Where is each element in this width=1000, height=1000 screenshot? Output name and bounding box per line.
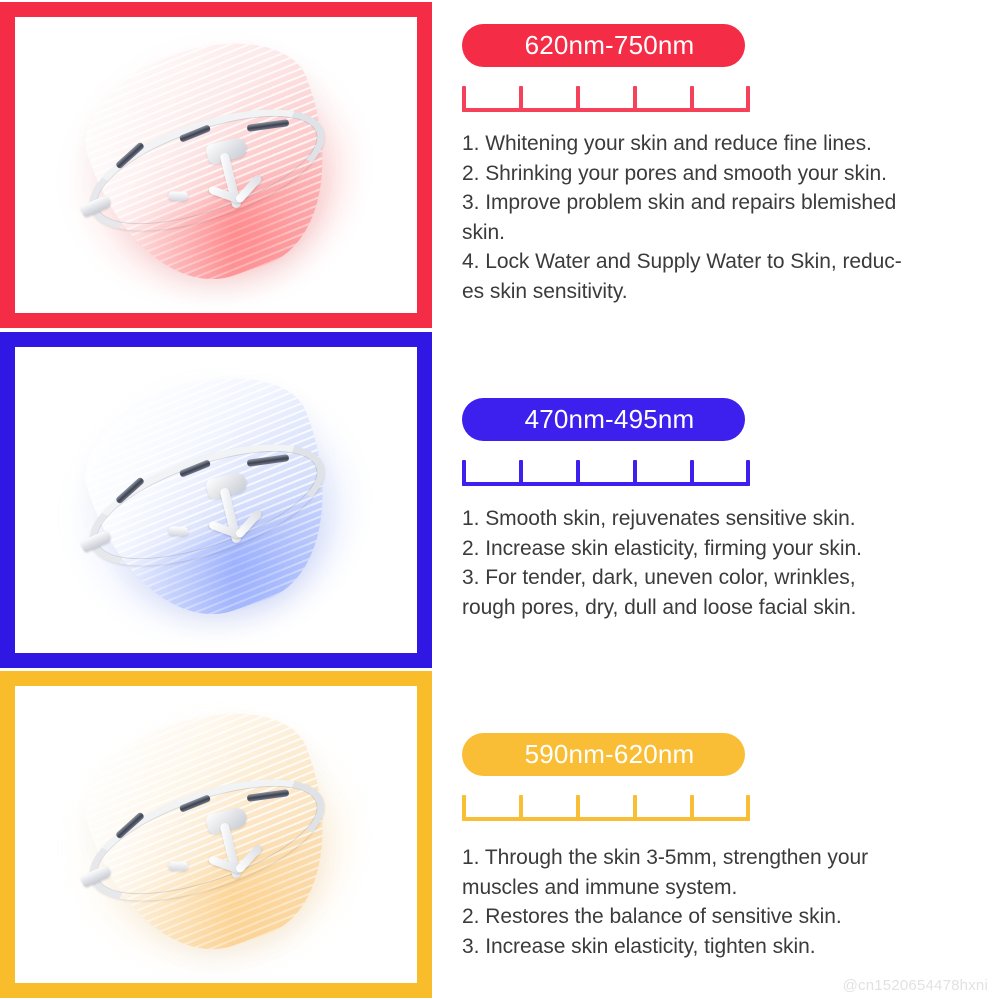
list-item: 3. Increase skin elasticity, tighten ski…	[462, 932, 990, 962]
benefit-list-red: 1. Whitening your skin and reduce fine l…	[462, 129, 990, 306]
list-item: 3. For tender, dark, uneven color, wrink…	[462, 563, 990, 622]
wavelength-scale-icon-blue	[462, 456, 750, 486]
led-face-mask-icon-blue	[51, 369, 381, 631]
benefit-list-yellow: 1. Through the skin 3-5mm, strengthen yo…	[462, 843, 990, 961]
watermark: @cn1520654478hxni	[843, 977, 988, 994]
led-face-mask-icon-yellow	[51, 704, 381, 966]
list-item: 4. Lock Water and Supply Water to Skin, …	[462, 247, 990, 306]
wavelength-scale-icon-red	[462, 82, 750, 112]
spec-block-blue: 470nm-495nm 1. Smooth skin, rejuvenates …	[462, 398, 990, 622]
product-infographic-page: 620nm-750nm 1. Whitening your skin and r…	[0, 0, 1000, 1000]
product-image-panel-blue	[0, 332, 432, 668]
list-item: 1. Smooth skin, rejuvenates sensitive sk…	[462, 504, 990, 534]
led-face-mask-icon-red	[51, 34, 381, 296]
panel-inner-yellow	[15, 686, 417, 983]
wavelength-badge-yellow: 590nm-620nm	[462, 733, 745, 776]
benefit-list-blue: 1. Smooth skin, rejuvenates sensitive sk…	[462, 504, 990, 622]
wavelength-badge-red: 620nm-750nm	[462, 24, 745, 67]
list-item: 2. Restores the balance of sensitive ski…	[462, 902, 990, 932]
wavelength-badge-blue: 470nm-495nm	[462, 398, 745, 441]
panel-inner-blue	[15, 347, 417, 653]
list-item: 3. Improve problem skin and repairs blem…	[462, 188, 990, 247]
product-image-panel-yellow	[0, 671, 432, 998]
list-item: 1. Whitening your skin and reduce fine l…	[462, 129, 990, 159]
list-item: 2. Increase skin elasticity, firming you…	[462, 534, 990, 564]
wavelength-scale-icon-yellow	[462, 791, 750, 821]
product-image-panel-red	[0, 2, 432, 328]
spec-block-red: 620nm-750nm 1. Whitening your skin and r…	[462, 24, 990, 306]
list-item: 1. Through the skin 3-5mm, strengthen yo…	[462, 843, 990, 902]
spec-block-yellow: 590nm-620nm 1. Through the skin 3-5mm, s…	[462, 733, 990, 961]
panel-inner-red	[15, 17, 417, 313]
list-item: 2. Shrinking your pores and smooth your …	[462, 159, 990, 189]
